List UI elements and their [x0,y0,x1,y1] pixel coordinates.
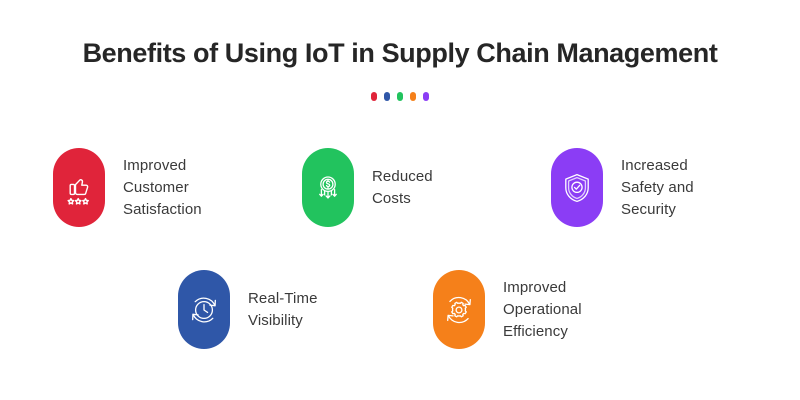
benefit-row-1: Improved Customer Satisfaction Reduced C… [0,148,800,227]
divider-dot-3 [397,92,403,101]
divider-dot-2 [384,92,390,101]
benefit-icon-badge [302,148,354,227]
divider-dot-4 [410,92,416,101]
benefit-card-reduced-costs[interactable]: Reduced Costs [302,148,551,227]
benefit-label: Increased Safety and Security [621,155,694,221]
benefit-card-increased-safety-and-security[interactable]: Increased Safety and Security [551,148,800,227]
divider-dot-1 [371,92,377,101]
thumbs-up-stars-icon [62,171,96,205]
dot-divider [0,92,800,101]
gear-cycle-icon [442,293,476,327]
benefit-icon-badge [551,148,603,227]
benefit-row-2: Real-Time Visibility Improved Operationa… [0,270,800,349]
benefit-icon-badge [53,148,105,227]
benefit-label: Real-Time Visibility [248,288,318,332]
benefit-card-improved-customer-satisfaction[interactable]: Improved Customer Satisfaction [53,148,302,227]
benefit-icon-badge [433,270,485,349]
benefit-icon-badge [178,270,230,349]
clock-refresh-icon [187,293,221,327]
cost-down-coin-icon [311,171,345,205]
benefit-label: Reduced Costs [372,166,433,210]
divider-dot-5 [423,92,429,101]
infographic-root: Benefits of Using IoT in Supply Chain Ma… [0,0,800,400]
benefit-card-real-time-visibility[interactable]: Real-Time Visibility [178,270,433,349]
benefit-label: Improved Customer Satisfaction [123,155,202,221]
benefit-card-improved-operational-efficiency[interactable]: Improved Operational Efficiency [433,270,688,349]
benefit-label: Improved Operational Efficiency [503,277,582,343]
page-title: Benefits of Using IoT in Supply Chain Ma… [0,38,800,69]
shield-check-icon [560,171,594,205]
